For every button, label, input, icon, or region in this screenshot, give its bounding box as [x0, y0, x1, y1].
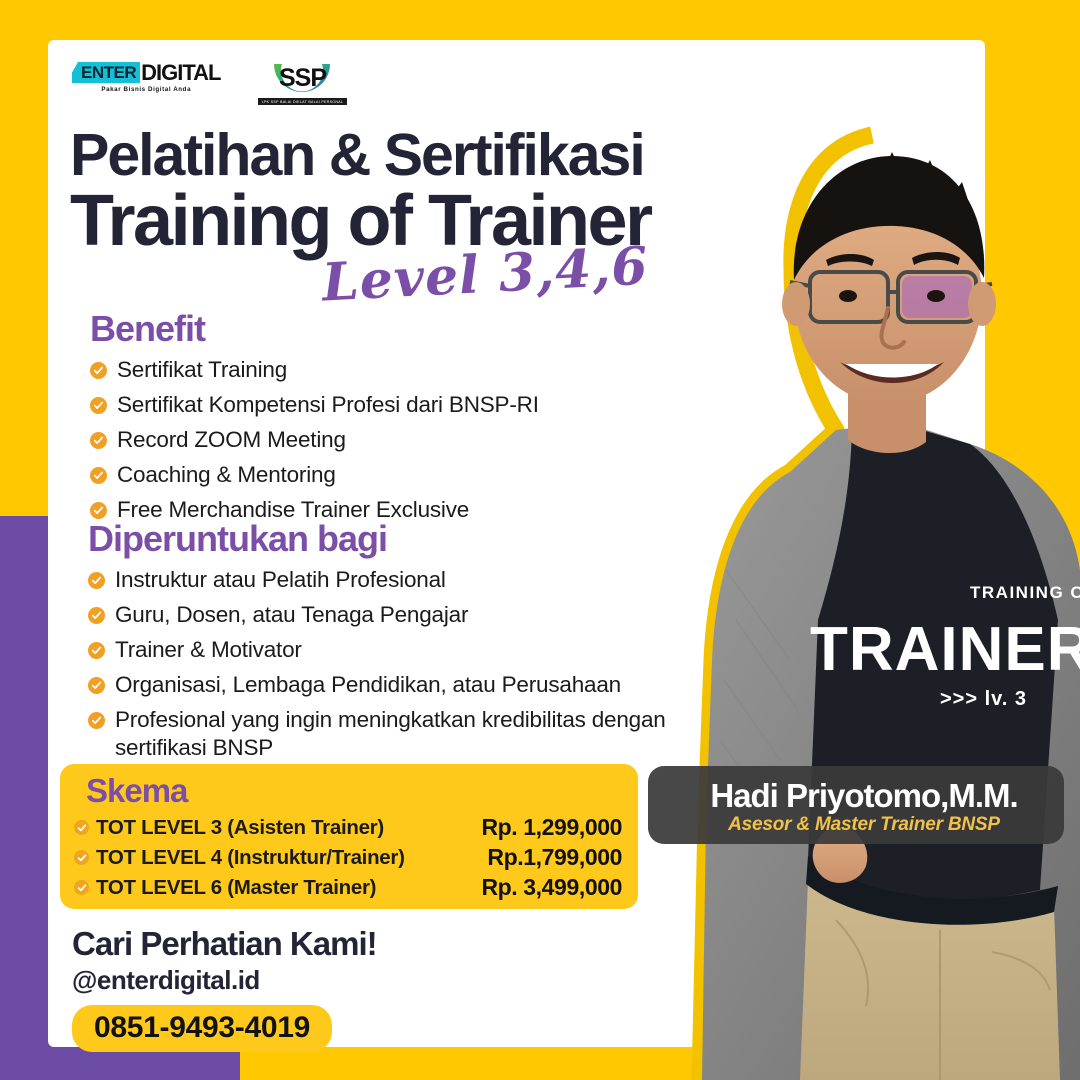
- check-icon: [74, 880, 89, 895]
- list-item: Guru, Dosen, atau Tenaga Pengajar: [88, 601, 690, 629]
- logo-row: ENTER DIGITAL Pakar Bisnis Digital Anda …: [72, 62, 338, 114]
- check-icon: [90, 467, 107, 484]
- page-title: Pelatihan & Sertifikasi Training of Trai…: [70, 126, 651, 256]
- skema-level-label: TOT LEVEL 4 (Instruktur/Trainer): [96, 846, 442, 870]
- check-icon: [90, 362, 107, 379]
- list-item: Record ZOOM Meeting: [90, 426, 539, 454]
- check-icon: [90, 397, 107, 414]
- presenter-name-text: Hadi Priyotomo,M.M. Asesor & Master Trai…: [664, 778, 1064, 836]
- table-row: TOT LEVEL 6 (Master Trainer) Rp. 3,499,0…: [74, 874, 628, 901]
- table-row: TOT LEVEL 4 (Instruktur/Trainer) Rp.1,79…: [74, 844, 628, 871]
- target-heading: Diperuntukan bagi: [88, 518, 690, 560]
- digital-word: DIGITAL: [141, 63, 220, 83]
- phone-number-badge[interactable]: 0851-9493-4019: [72, 1005, 332, 1052]
- presenter-photo-illustration: TRAINING O TRAINER >>> lv. 3: [640, 100, 1080, 1080]
- list-item: Coaching & Mentoring: [90, 461, 539, 489]
- enter-word: ENTER: [72, 62, 140, 83]
- benefit-section: Benefit Sertifikat Training Sertifikat K…: [90, 308, 539, 531]
- list-item: Trainer & Motivator: [88, 636, 690, 664]
- enter-digital-wordmark: ENTER DIGITAL: [72, 62, 220, 83]
- skema-level-label: TOT LEVEL 3 (Asisten Trainer): [96, 816, 442, 840]
- list-item: Profesional yang ingin meningkatkan kred…: [88, 706, 690, 762]
- ssp-logo: SSP LPK SSP BALAI DIKLAT BALAI PERSONAL: [266, 62, 338, 114]
- benefit-item-label: Coaching & Mentoring: [117, 461, 336, 489]
- benefit-item-label: Sertifikat Kompetensi Profesi dari BNSP-…: [117, 391, 539, 419]
- skema-price: Rp.1,799,000: [442, 844, 628, 871]
- list-item: Organisasi, Lembaga Pendidikan, atau Per…: [88, 671, 690, 699]
- skema-panel: Skema TOT LEVEL 3 (Asisten Trainer) Rp. …: [60, 764, 638, 909]
- skema-rows: TOT LEVEL 3 (Asisten Trainer) Rp. 1,299,…: [74, 814, 628, 904]
- check-icon: [88, 607, 105, 624]
- check-icon: [74, 850, 89, 865]
- list-item: Sertifikat Training: [90, 356, 539, 384]
- table-row: TOT LEVEL 3 (Asisten Trainer) Rp. 1,299,…: [74, 814, 628, 841]
- target-item-label: Instruktur atau Pelatih Profesional: [115, 566, 446, 594]
- svg-text:TRAINER: TRAINER: [810, 615, 1080, 684]
- target-list: Instruktur atau Pelatih Profesional Guru…: [88, 566, 690, 762]
- ssp-sublabel: LPK SSP BALAI DIKLAT BALAI PERSONAL: [258, 98, 348, 105]
- check-icon: [90, 502, 107, 519]
- presenter-role: Asesor & Master Trainer BNSP: [664, 814, 1064, 836]
- svg-text:TRAINING O: TRAINING O: [970, 583, 1080, 602]
- svg-text:>>> lv. 3: >>> lv. 3: [940, 688, 1027, 710]
- benefit-heading: Benefit: [90, 308, 539, 350]
- benefit-item-label: Sertifikat Training: [117, 356, 287, 384]
- skema-heading: Skema: [86, 772, 187, 810]
- check-icon: [88, 677, 105, 694]
- target-audience-section: Diperuntukan bagi Instruktur atau Pelati…: [88, 518, 690, 769]
- check-icon: [88, 712, 105, 729]
- target-item-label: Profesional yang ingin meningkatkan kred…: [115, 706, 690, 762]
- enter-digital-logo: ENTER DIGITAL Pakar Bisnis Digital Anda: [72, 62, 220, 93]
- check-icon: [88, 572, 105, 589]
- ssp-wordmark: SSP: [279, 65, 326, 92]
- presenter-photo: TRAINING O TRAINER >>> lv. 3: [640, 100, 1080, 1080]
- enter-digital-tagline: Pakar Bisnis Digital Anda: [101, 86, 191, 93]
- target-item-label: Guru, Dosen, atau Tenaga Pengajar: [115, 601, 468, 629]
- instagram-handle[interactable]: @enterdigital.id: [72, 965, 377, 996]
- list-item: Sertifikat Kompetensi Profesi dari BNSP-…: [90, 391, 539, 419]
- skema-price: Rp. 1,299,000: [442, 814, 628, 841]
- benefit-item-label: Record ZOOM Meeting: [117, 426, 346, 454]
- target-item-label: Organisasi, Lembaga Pendidikan, atau Per…: [115, 671, 621, 699]
- title-line-1: Pelatihan & Sertifikasi: [70, 126, 651, 184]
- target-item-label: Trainer & Motivator: [115, 636, 302, 664]
- contact-section: Cari Perhatian Kami! @enterdigital.id 08…: [72, 925, 377, 1052]
- list-item: Instruktur atau Pelatih Profesional: [88, 566, 690, 594]
- check-icon: [88, 642, 105, 659]
- check-icon: [90, 432, 107, 449]
- skema-level-label: TOT LEVEL 6 (Master Trainer): [96, 876, 442, 900]
- benefit-list: Sertifikat Training Sertifikat Kompetens…: [90, 356, 539, 524]
- skema-price: Rp. 3,499,000: [442, 874, 628, 901]
- cta-headline: Cari Perhatian Kami!: [72, 925, 377, 963]
- presenter-name: Hadi Priyotomo,M.M.: [664, 778, 1064, 814]
- check-icon: [74, 820, 89, 835]
